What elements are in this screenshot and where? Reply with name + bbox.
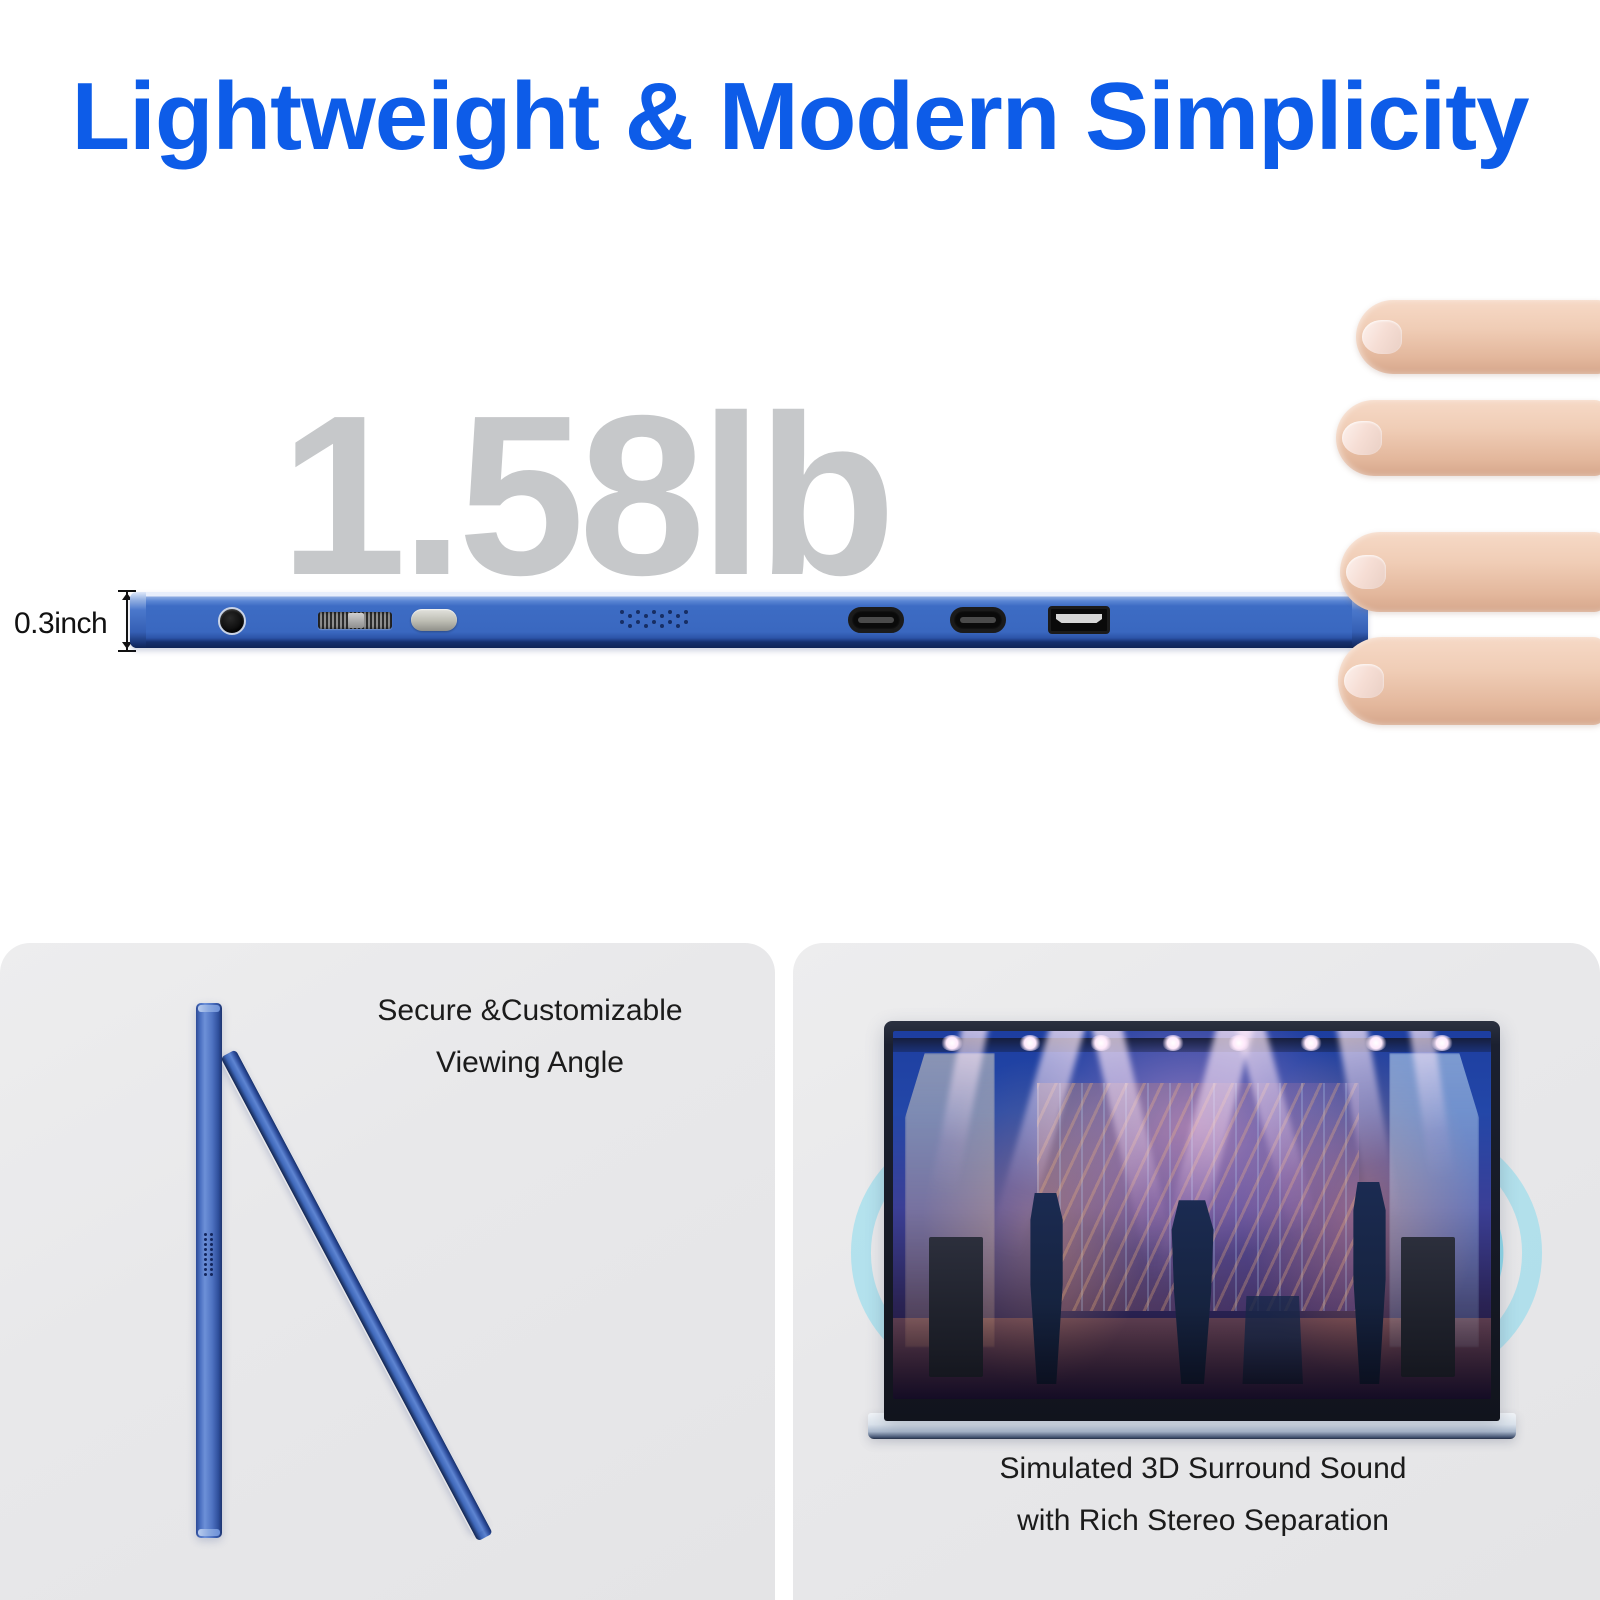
stage-speaker-left [929, 1237, 983, 1377]
fingernail [1346, 555, 1386, 589]
panel-viewing-angle: Secure &Customizable Viewing Angle 75° [0, 943, 775, 1600]
headphone-jack-icon[interactable] [218, 607, 246, 635]
feature-panels: Secure &Customizable Viewing Angle 75° [0, 928, 1600, 1600]
finger-middle [1336, 400, 1600, 476]
concert-scene-image [893, 1031, 1491, 1399]
sound-caption: Simulated 3D Surround Sound with Rich St… [993, 1443, 1413, 1547]
device-side-view [130, 592, 1368, 648]
stand-caption: Secure &Customizable Viewing Angle [330, 985, 730, 1089]
monitor-bottom-edge [198, 1529, 220, 1536]
scroll-wheel-icon[interactable] [318, 612, 392, 629]
sound-caption-line1: Simulated 3D Surround Sound [993, 1443, 1413, 1495]
kickstand [220, 1050, 490, 1536]
usb-c-port-1-icon[interactable] [848, 607, 904, 633]
stand-caption-line1: Secure &Customizable [330, 985, 730, 1037]
weight-watermark: 1.58lb [0, 382, 1170, 610]
fingernail [1344, 664, 1384, 698]
finger-index [1356, 300, 1600, 374]
power-button-icon[interactable] [411, 609, 457, 631]
sound-caption-line2: with Rich Stereo Separation [993, 1495, 1413, 1547]
stage-speaker-right [1401, 1237, 1455, 1377]
thickness-label: 0.3inch [14, 607, 107, 641]
usb-c-port-2-icon[interactable] [950, 607, 1006, 633]
page-title: Lightweight & Modern Simplicity [0, 62, 1600, 172]
speaker-grille-icon [620, 610, 694, 632]
device-left-cap [130, 592, 146, 648]
hdmi-port-icon[interactable] [1048, 606, 1110, 634]
monitor-top-edge [198, 1005, 220, 1012]
finger-ring [1340, 532, 1600, 612]
monitor-landscape [884, 1021, 1500, 1421]
hero-section: Lightweight & Modern Simplicity 1.58lb 0… [0, 0, 1600, 928]
thickness-dimension: 0.3inch [14, 590, 134, 660]
monitor-speaker-holes-icon [204, 1233, 215, 1277]
monitor-screen [893, 1031, 1491, 1399]
panel-surround-sound: Simulated 3D Surround Sound with Rich St… [793, 943, 1600, 1600]
fingernail [1342, 421, 1382, 455]
monitor-upright [196, 1003, 222, 1538]
finger-pinky [1338, 637, 1600, 725]
hand-holding-device [1318, 292, 1600, 762]
stand-caption-line2: Viewing Angle [330, 1037, 730, 1089]
fingernail [1362, 320, 1402, 354]
